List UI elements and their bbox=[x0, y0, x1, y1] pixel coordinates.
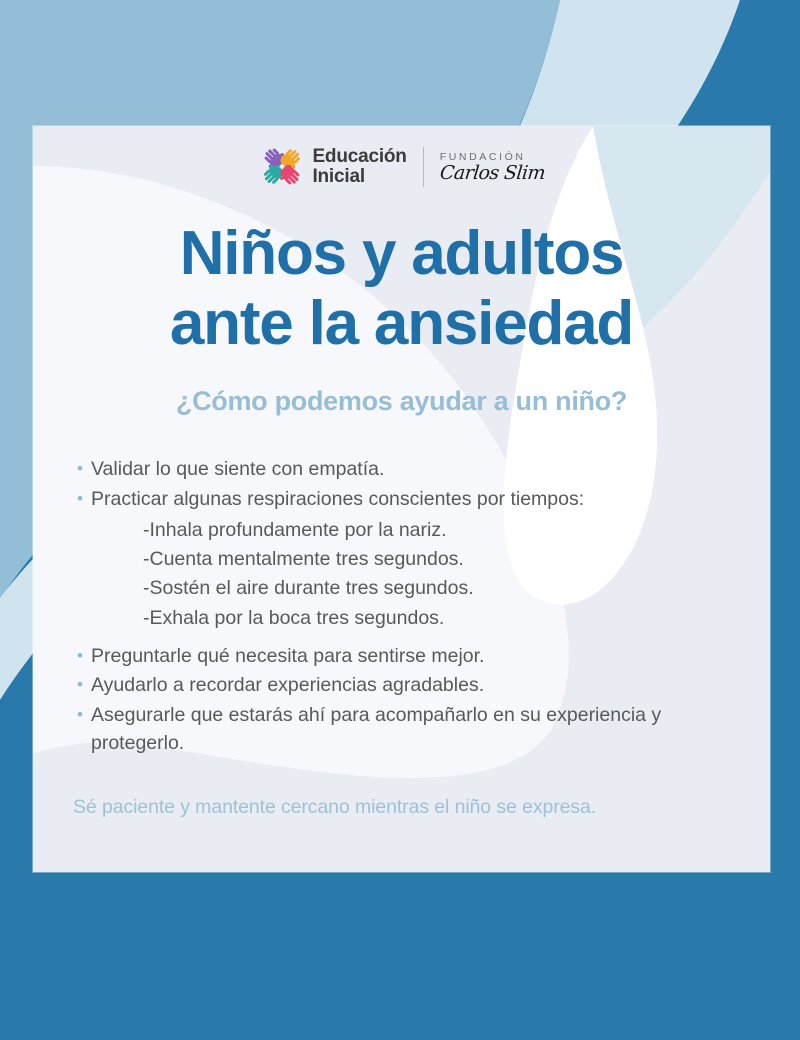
list-subitems: -Inhala profundamente por la nariz. -Cue… bbox=[143, 516, 747, 632]
content-card: Educación Inicial FUNDACIÓN Carlos Slim … bbox=[33, 126, 770, 872]
foundation-label: FUNDACIÓN bbox=[440, 152, 545, 163]
bullet-icon: • bbox=[77, 486, 91, 512]
poster: Educación Inicial FUNDACIÓN Carlos Slim … bbox=[0, 0, 800, 1040]
list-item-label: Preguntarle qué necesita para sentirse m… bbox=[91, 643, 747, 671]
list-subitem: -Inhala profundamente por la nariz. bbox=[143, 516, 747, 545]
list-item: • Ayudarlo a recordar experiencias agrad… bbox=[77, 672, 747, 700]
list-item-label: Asegurarle que estarás ahí para acompaña… bbox=[91, 702, 747, 757]
list-item: • Asegurarle que estarás ahí para acompa… bbox=[77, 702, 747, 757]
bullet-icon: • bbox=[77, 672, 91, 698]
foundation-signature: Carlos Slim bbox=[439, 164, 546, 183]
list-item-label: Ayudarlo a recordar experiencias agradab… bbox=[91, 672, 747, 700]
brand-name: Educación Inicial bbox=[312, 146, 406, 186]
advice-list: • Validar lo que siente con empatía. • P… bbox=[77, 456, 747, 759]
bullet-icon: • bbox=[77, 643, 91, 669]
bullet-icon: • bbox=[77, 702, 91, 728]
brand-name-line1: Educación bbox=[312, 147, 406, 167]
four-hands-pinwheel-icon bbox=[258, 143, 306, 190]
list-item-label: Practicar algunas respiraciones conscien… bbox=[91, 486, 747, 514]
card-content: Educación Inicial FUNDACIÓN Carlos Slim … bbox=[33, 126, 770, 872]
list-item: • Validar lo que siente con empatía. bbox=[77, 456, 747, 484]
page-title-line2: ante la ansiedad bbox=[33, 289, 770, 359]
brand-name-line2: Inicial bbox=[312, 167, 406, 187]
list-item: • Preguntarle qué necesita para sentirse… bbox=[77, 643, 747, 671]
bullet-icon: • bbox=[77, 456, 91, 482]
list-subitem: -Cuenta mentalmente tres segundos. bbox=[143, 545, 747, 574]
foundation-logo: FUNDACIÓN Carlos Slim bbox=[440, 150, 545, 184]
footer-note: Sé paciente y mantente cercano mientras … bbox=[73, 796, 733, 819]
page-title: Niños y adultos ante la ansiedad bbox=[33, 219, 770, 359]
list-subitem: -Sostén el aire durante tres segundos. bbox=[143, 574, 747, 603]
list-subitem: -Exhala por la boca tres segundos. bbox=[143, 604, 747, 633]
page-subtitle: ¿Cómo podemos ayudar a un niño? bbox=[33, 386, 770, 417]
page-title-line1: Niños y adultos bbox=[33, 219, 770, 289]
list-item: • Practicar algunas respiraciones consci… bbox=[77, 486, 747, 514]
list-item-label: Validar lo que siente con empatía. bbox=[91, 456, 747, 484]
logo-divider bbox=[423, 147, 424, 187]
brand-logo-bar: Educación Inicial FUNDACIÓN Carlos Slim bbox=[33, 143, 770, 190]
